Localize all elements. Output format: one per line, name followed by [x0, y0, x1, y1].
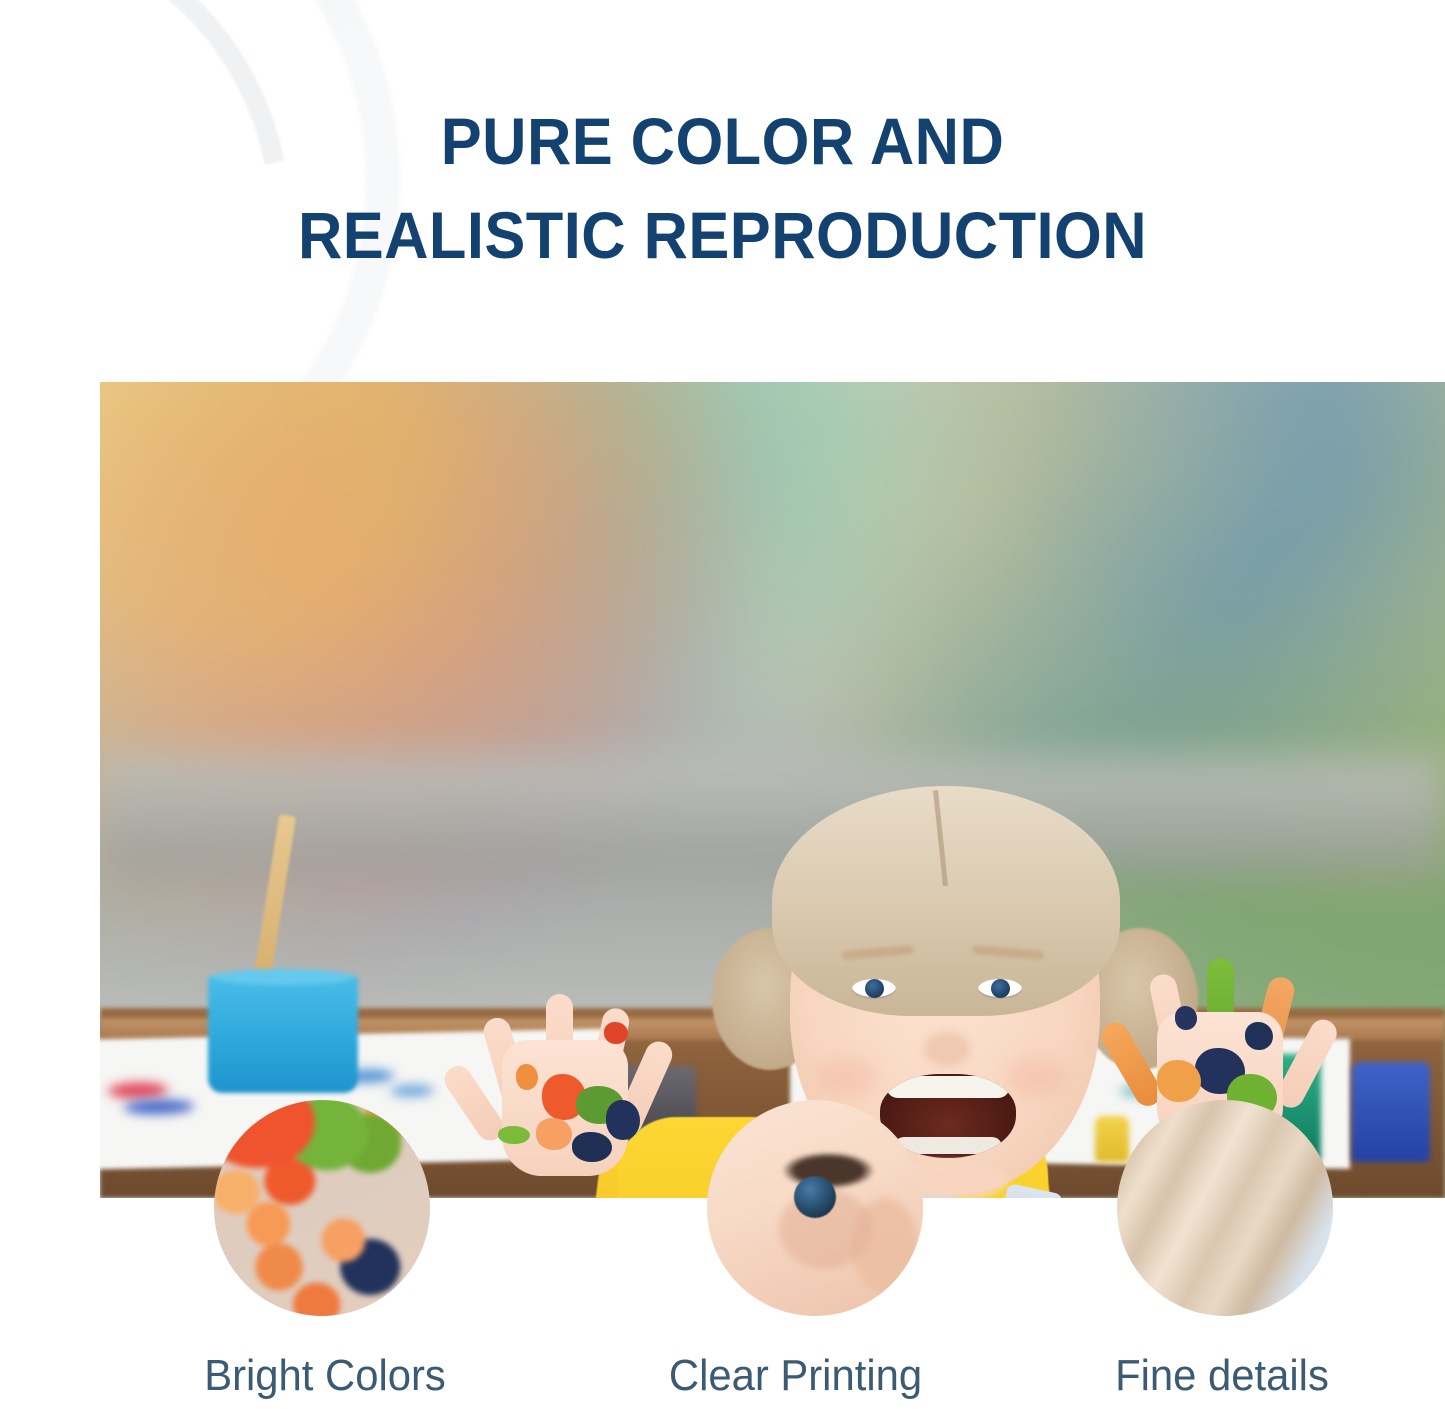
callout-circle-fine-details: [1117, 1100, 1333, 1316]
painted-hand-left: [480, 978, 650, 1178]
paint-closeup-image: [214, 1100, 430, 1316]
hair: [772, 786, 1120, 1016]
callout-circle-clear-printing: [707, 1100, 923, 1316]
iris-closeup: [794, 1176, 836, 1218]
headline-line-1: PURE COLOR AND: [51, 95, 1395, 189]
child-subject: [100, 382, 1445, 1198]
paint-blob: [1157, 1060, 1201, 1102]
hero-photo: [100, 382, 1445, 1198]
cheek-right: [1006, 1058, 1066, 1096]
cheek-left: [816, 1058, 876, 1096]
nose: [924, 1032, 970, 1066]
caption-fine-details: Fine details: [1070, 1348, 1374, 1404]
iris: [991, 979, 1010, 998]
paint-blob: [498, 1126, 530, 1144]
hair-closeup-image: [1117, 1100, 1333, 1316]
paint-blob: [536, 1118, 572, 1150]
paint-blob: [606, 1100, 640, 1140]
page-headline: PURE COLOR AND REALISTIC REPRODUCTION: [51, 95, 1395, 282]
headline-line-2: REALISTIC REPRODUCTION: [51, 189, 1395, 283]
paint-blob: [1175, 1006, 1197, 1030]
eye-right: [978, 979, 1022, 999]
eye-left: [852, 979, 896, 999]
upper-teeth: [886, 1076, 1010, 1098]
iris: [865, 979, 884, 998]
paint-blob: [604, 1022, 628, 1044]
caption-bright-colors: Bright Colors: [168, 1348, 482, 1404]
paint-blob: [572, 1132, 612, 1162]
callout-circle-bright-colors: [214, 1100, 430, 1316]
caption-clear-printing: Clear Printing: [632, 1348, 960, 1404]
paint-blob: [1245, 1022, 1273, 1050]
paint-blob: [516, 1064, 538, 1090]
callout-captions: Bright Colors Clear Printing Fine detail…: [0, 1348, 1445, 1404]
